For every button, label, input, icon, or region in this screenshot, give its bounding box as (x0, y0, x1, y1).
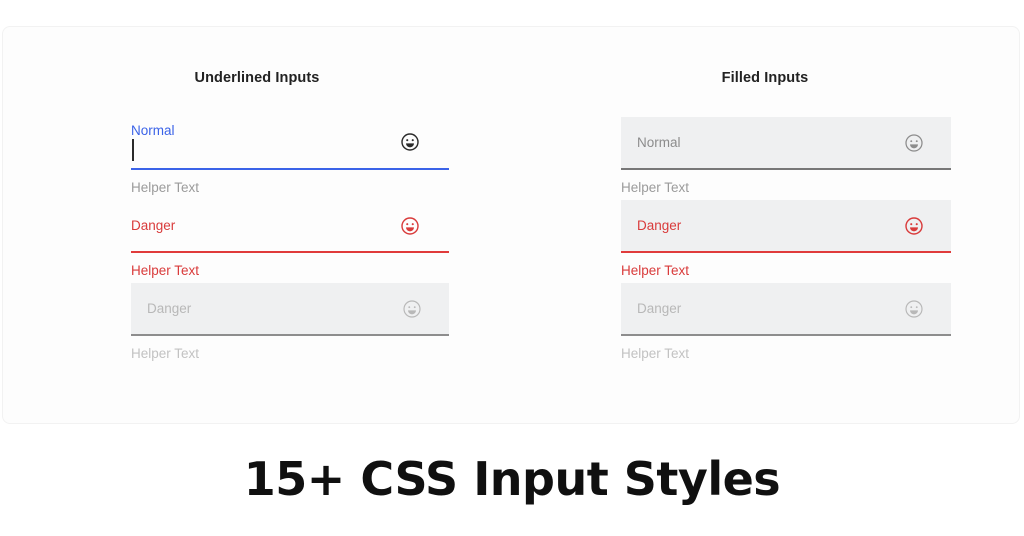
input-label-disabled: Danger (147, 302, 191, 316)
smiley-face-icon[interactable] (399, 131, 421, 153)
smiley-face-icon (903, 298, 925, 320)
field-underlined-disabled: Danger Helper Text (131, 283, 511, 366)
input-filled-disabled: Danger (621, 283, 951, 334)
field-inner: Danger Helper Text (621, 200, 951, 278)
helper-text-disabled: Helper Text (131, 336, 449, 361)
column-underlined-inputs: Underlined Inputs Normal (3, 27, 511, 423)
field-inner: Danger Helper Text (621, 283, 951, 361)
helper-text-normal: Helper Text (131, 170, 449, 195)
helper-text-disabled: Helper Text (621, 336, 951, 361)
column-title-filled: Filled Inputs (511, 70, 1019, 86)
input-label-normal: Normal (131, 124, 175, 138)
filled-field-list: Normal Helper Text (621, 117, 1019, 366)
input-underlined-normal[interactable]: Normal (131, 117, 449, 168)
input-filled-danger[interactable]: Danger (621, 200, 951, 251)
page-title: 15+ CSS Input Styles (0, 452, 1024, 506)
helper-text-normal: Helper Text (621, 170, 951, 195)
smiley-face-icon[interactable] (399, 215, 421, 237)
field-filled-danger[interactable]: Danger Helper Text (621, 200, 1019, 283)
input-underlined-danger[interactable]: Danger (131, 200, 449, 251)
field-inner: Normal Helper Text (621, 117, 951, 195)
column-filled-inputs: Filled Inputs Normal (511, 27, 1019, 423)
input-filled-normal[interactable]: Normal (621, 117, 951, 168)
field-filled-normal[interactable]: Normal Helper Text (621, 117, 1019, 200)
smiley-face-icon[interactable] (903, 215, 925, 237)
inputs-showcase-card: Underlined Inputs Normal (2, 26, 1020, 424)
helper-text-danger: Helper Text (621, 253, 951, 278)
columns-wrapper: Underlined Inputs Normal (3, 27, 1019, 423)
input-label-danger: Danger (131, 219, 175, 233)
smiley-face-icon[interactable] (903, 132, 925, 154)
field-underlined-danger[interactable]: Danger Helper Text (131, 200, 511, 283)
field-inner: Danger Helper Text (131, 283, 449, 361)
field-underlined-normal[interactable]: Normal (131, 117, 511, 200)
column-title-underlined: Underlined Inputs (3, 70, 511, 86)
smiley-face-icon (401, 298, 423, 320)
underlined-field-list: Normal (131, 117, 511, 366)
input-underlined-disabled: Danger (131, 283, 449, 334)
field-filled-disabled: Danger Helper Text (621, 283, 1019, 366)
field-inner: Danger Helper Text (131, 200, 449, 278)
field-inner: Normal (131, 117, 449, 195)
input-label-danger: Danger (637, 219, 681, 233)
helper-text-danger: Helper Text (131, 253, 449, 278)
input-label-normal: Normal (637, 136, 681, 150)
text-caret (132, 139, 134, 161)
input-label-disabled: Danger (637, 302, 681, 316)
